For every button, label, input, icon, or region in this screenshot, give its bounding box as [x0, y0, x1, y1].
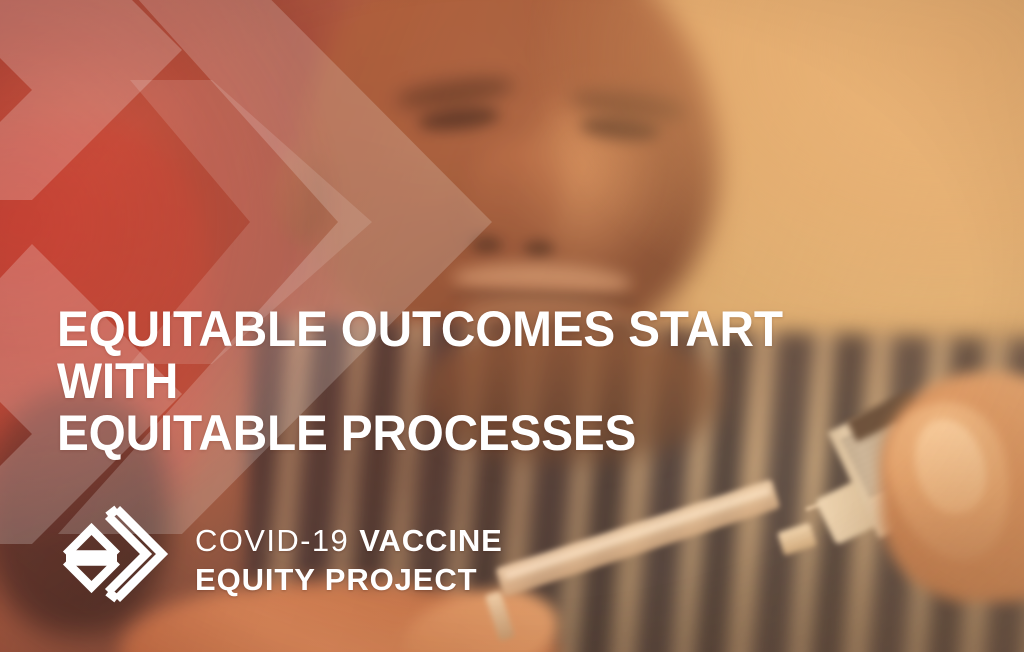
- logo-line-two: EQUITY PROJECT: [195, 564, 503, 595]
- page-title: EQUITABLE OUTCOMES START WITH EQUITABLE …: [57, 303, 917, 459]
- logo-covid19-text: COVID-19: [195, 523, 349, 558]
- covid-vaccine-equity-banner: EQUITABLE OUTCOMES START WITH EQUITABLE …: [0, 0, 1024, 652]
- chevron-diamond-logo-icon: [55, 504, 173, 612]
- project-logo-lockup: COVID-19 VACCINE EQUITY PROJECT: [55, 504, 503, 612]
- logo-vaccine-text: VACCINE: [359, 523, 503, 558]
- logo-wordmark: COVID-19 VACCINE EQUITY PROJECT: [195, 521, 503, 595]
- logo-line-one: COVID-19 VACCINE: [195, 525, 503, 556]
